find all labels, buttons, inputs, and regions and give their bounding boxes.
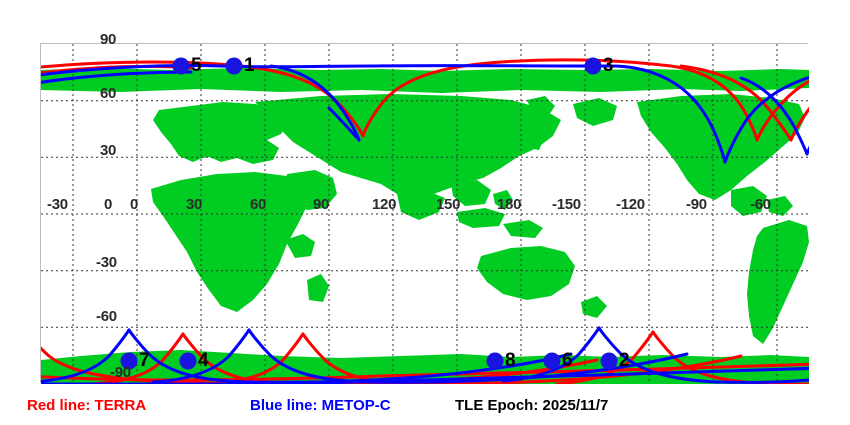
- xtick-label--60: -60: [750, 196, 771, 213]
- marker-dot-4[interactable]: [180, 353, 197, 370]
- marker-label-2: 2: [619, 350, 630, 372]
- legend-blue-line-metopc: Blue line: METOP-C: [250, 397, 391, 414]
- xtick-label-180: 180: [497, 196, 521, 213]
- xtick-label--30: -30: [47, 196, 68, 213]
- marker-label-7: 7: [139, 350, 150, 372]
- ytick-label-0: 0: [104, 196, 112, 213]
- ytick-label--90: -90: [110, 364, 131, 381]
- map-canvas: [41, 44, 809, 384]
- marker-label-6: 6: [562, 350, 573, 372]
- world-map-panel: 5 1 3 7 4 8 6 2: [40, 43, 808, 383]
- marker-label-8: 8: [505, 350, 516, 372]
- marker-label-3: 3: [603, 55, 614, 77]
- marker-label-5: 5: [191, 55, 202, 77]
- xtick-label-0: 0: [130, 196, 138, 213]
- ytick-label-60: 60: [100, 85, 116, 102]
- xtick-label-120: 120: [372, 196, 396, 213]
- xtick-label--120: -120: [616, 196, 645, 213]
- xtick-label--150: -150: [552, 196, 581, 213]
- marker-label-4: 4: [198, 350, 209, 372]
- xtick-label-150: 150: [436, 196, 460, 213]
- legend-red-line-terra: Red line: TERRA: [27, 397, 146, 414]
- xtick-label--90: -90: [686, 196, 707, 213]
- marker-dot-5[interactable]: [173, 58, 190, 75]
- marker-dot-8[interactable]: [487, 353, 504, 370]
- ytick-label-90: 90: [100, 31, 116, 48]
- marker-dot-6[interactable]: [544, 353, 561, 370]
- ytick-label-30: 30: [100, 142, 116, 159]
- legend-tle-epoch: TLE Epoch: 2025/11/7: [455, 397, 608, 414]
- xtick-label-90: 90: [313, 196, 329, 213]
- ytick-label--60: -60: [96, 308, 117, 325]
- xtick-label-60: 60: [250, 196, 266, 213]
- legend-bar: Red line: TERRA Blue line: METOP-C TLE E…: [0, 392, 850, 425]
- marker-dot-1[interactable]: [226, 58, 243, 75]
- marker-label-1: 1: [244, 55, 255, 77]
- ytick-label--30: -30: [96, 254, 117, 271]
- marker-dot-3[interactable]: [585, 58, 602, 75]
- marker-dot-2[interactable]: [601, 353, 618, 370]
- xtick-label-30: 30: [186, 196, 202, 213]
